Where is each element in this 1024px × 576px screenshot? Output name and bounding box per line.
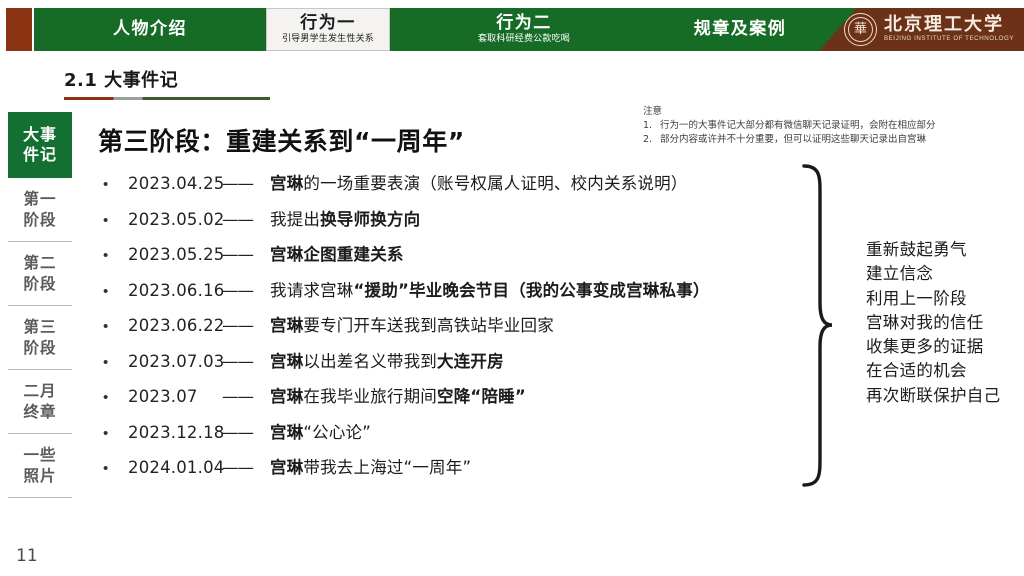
- sidebar-item-stage-two[interactable]: 第二 阶段: [8, 242, 72, 306]
- timeline-date: 2023.05.25: [128, 245, 222, 264]
- seal-glyph: 華: [854, 23, 867, 36]
- timeline-dash: ——: [222, 316, 270, 335]
- sidebar-item-label-line2: 终章: [23, 402, 56, 422]
- timeline-date: 2023.07: [128, 387, 222, 406]
- notice-block: 注意 1. 行为一的大事件记大部分都有微信聊天记录证明，会附在相应部分 2. 部…: [643, 106, 1013, 146]
- timeline-dash: ——: [222, 210, 270, 229]
- sidebar-item-label-line2: 阶段: [23, 210, 56, 230]
- notice-item: 2. 部分内容或许并不十分重要，但可以证明这些聊天记录出自宫琳: [643, 133, 1013, 147]
- page-title: 2.1 大事件记: [64, 66, 274, 92]
- nav-tab-sublabel: 引导男学生发生性关系: [282, 34, 374, 45]
- notice-item: 1. 行为一的大事件记大部分都有微信聊天记录证明，会附在相应部分: [643, 119, 1013, 133]
- main-heading: 第三阶段：重建关系到“一周年”: [98, 122, 465, 158]
- nav-tab-label: 规章及案例: [694, 20, 787, 39]
- timeline-row: •2023.05.02——我提出换导师换方向: [98, 206, 818, 242]
- brand-name-cn: 北京理工大学: [884, 16, 1014, 35]
- nav-tab-sublabel: 套取科研经费公款吃喝: [478, 34, 570, 45]
- timeline-date: 2023.06.22: [128, 316, 222, 335]
- sidebar-item-label-line1: 第一: [23, 189, 56, 209]
- timeline-date: 2023.06.16: [128, 281, 222, 300]
- annotation-line: 在合适的机会: [866, 359, 1000, 383]
- sidebar-item-label-line1: 二月: [23, 381, 56, 401]
- timeline-dash: ——: [222, 387, 270, 406]
- bullet-icon: •: [98, 426, 128, 441]
- timeline-text: 我提出换导师换方向: [270, 206, 420, 230]
- nav-tab-people-intro[interactable]: 人物介绍: [36, 8, 264, 51]
- stage-summary-annotation: 重新鼓起勇气建立信念利用上一阶段宫琳对我的信任收集更多的证据在合适的机会再次断联…: [866, 238, 1000, 408]
- annotation-line: 收集更多的证据: [866, 335, 1000, 359]
- timeline-date: 2023.07.03: [128, 352, 222, 371]
- timeline-list: •2023.04.25——宫琳的一场重要表演（账号权属人证明、校内关系说明）•2…: [98, 170, 818, 490]
- timeline-date: 2024.01.04: [128, 458, 222, 477]
- nav-tab-behavior-one[interactable]: 行为一 引导男学生发生性关系: [266, 8, 390, 51]
- bullet-icon: •: [98, 461, 128, 476]
- timeline-text: 宫琳要专门开车送我到高铁站毕业回家: [270, 312, 554, 336]
- bullet-icon: •: [98, 284, 128, 299]
- bullet-icon: •: [98, 177, 128, 192]
- timeline-row: •2023.05.25——宫琳企图重建关系: [98, 241, 818, 277]
- bullet-icon: •: [98, 213, 128, 228]
- timeline-row: •2023.04.25——宫琳的一场重要表演（账号权属人证明、校内关系说明）: [98, 170, 818, 206]
- brand-name-en: BEIJING INSTITUTE OF TECHNOLOGY: [884, 35, 1014, 43]
- sidebar-item-label-line2: 阶段: [23, 274, 56, 294]
- timeline-date: 2023.12.18: [128, 423, 222, 442]
- nav-tab-label: 行为二: [496, 14, 552, 33]
- curly-brace-icon: [800, 163, 834, 488]
- timeline-row: •2023.06.16——我请求宫琳“援助”毕业晚会节目（我的公事变成宫琳私事）: [98, 277, 818, 313]
- annotation-line: 建立信念: [866, 262, 1000, 286]
- notice-item-text: 行为一的大事件记大部分都有微信聊天记录证明，会附在相应部分: [660, 119, 936, 133]
- sidebar-item-label-line2: 件记: [23, 145, 57, 165]
- timeline-text: 宫琳带我去上海过“一周年”: [270, 454, 471, 478]
- sidebar-item-label-line1: 第二: [23, 253, 56, 273]
- timeline-text: 宫琳“公心论”: [270, 419, 371, 443]
- header-accent-stub: [6, 8, 32, 51]
- nav-tab-rules-and-cases[interactable]: 规章及案例: [650, 8, 830, 51]
- bullet-icon: •: [98, 319, 128, 334]
- annotation-line: 重新鼓起勇气: [866, 238, 1000, 262]
- timeline-text: 我请求宫琳“援助”毕业晚会节目（我的公事变成宫琳私事）: [270, 277, 710, 301]
- notice-item-number: 2.: [643, 133, 660, 147]
- timeline-dash: ——: [222, 174, 270, 193]
- timeline-date: 2023.04.25: [128, 174, 222, 193]
- timeline-dash: ——: [222, 458, 270, 477]
- sidebar-item-label-line1: 大事: [23, 125, 57, 145]
- timeline-text: 宫琳在我毕业旅行期间空降“陪睡”: [270, 383, 526, 407]
- nav-tab-label: 行为一: [300, 14, 356, 33]
- sidebar-item-label-line1: 第三: [23, 317, 56, 337]
- annotation-line: 利用上一阶段: [866, 287, 1000, 311]
- bullet-icon: •: [98, 248, 128, 263]
- timeline-dash: ——: [222, 423, 270, 442]
- university-seal-icon: 華: [844, 13, 877, 46]
- annotation-line: 宫琳对我的信任: [866, 311, 1000, 335]
- page-number: 11: [16, 546, 38, 566]
- sidebar-item-stage-three[interactable]: 第三 阶段: [8, 306, 72, 370]
- notice-item-text: 部分内容或许并不十分重要，但可以证明这些聊天记录出自宫琳: [660, 133, 926, 147]
- section-title-block: 2.1 大事件记: [64, 66, 274, 100]
- nav-tab-behavior-two[interactable]: 行为二 套取科研经费公款吃喝: [400, 8, 648, 51]
- timeline-dash: ——: [222, 352, 270, 371]
- timeline-row: •2023.07.03——宫琳以出差名义带我到大连开房: [98, 348, 818, 384]
- sidebar-item-label-line2: 阶段: [23, 338, 56, 358]
- sidebar-item-label-line2: 照片: [23, 466, 56, 486]
- timeline-text: 宫琳企图重建关系: [270, 241, 404, 265]
- timeline-row: •2023.12.18——宫琳“公心论”: [98, 419, 818, 455]
- bullet-icon: •: [98, 355, 128, 370]
- section-sidebar: 大事 件记 第一 阶段 第二 阶段 第三 阶段 二月 终章 一些 照片: [8, 112, 72, 498]
- brand-text: 北京理工大学 BEIJING INSTITUTE OF TECHNOLOGY: [884, 16, 1014, 44]
- bullet-icon: •: [98, 390, 128, 405]
- timeline-row: •2023.07——宫琳在我毕业旅行期间空降“陪睡”: [98, 383, 818, 419]
- sidebar-item-major-events[interactable]: 大事 件记: [8, 112, 72, 178]
- timeline-dash: ——: [222, 245, 270, 264]
- timeline-text: 宫琳以出差名义带我到大连开房: [270, 348, 504, 372]
- title-underline-rule: [64, 97, 270, 100]
- timeline-dash: ——: [222, 281, 270, 300]
- timeline-date: 2023.05.02: [128, 210, 222, 229]
- nav-tab-label: 人物介绍: [113, 20, 187, 39]
- notice-title: 注意: [643, 106, 1013, 119]
- sidebar-item-stage-one[interactable]: 第一 阶段: [8, 178, 72, 242]
- notice-item-number: 1.: [643, 119, 660, 133]
- sidebar-item-label-line1: 一些: [23, 445, 56, 465]
- sidebar-item-february-finale[interactable]: 二月 终章: [8, 370, 72, 434]
- timeline-row: •2023.06.22——宫琳要专门开车送我到高铁站毕业回家: [98, 312, 818, 348]
- timeline-text: 宫琳的一场重要表演（账号权属人证明、校内关系说明）: [270, 170, 688, 194]
- sidebar-item-some-photos[interactable]: 一些 照片: [8, 434, 72, 498]
- annotation-line: 再次断联保护自己: [866, 384, 1000, 408]
- top-navigation-bar: 人物介绍 行为一 引导男学生发生性关系 行为二 套取科研经费公款吃喝 规章及案例…: [0, 0, 1024, 57]
- timeline-row: •2024.01.04——宫琳带我去上海过“一周年”: [98, 454, 818, 490]
